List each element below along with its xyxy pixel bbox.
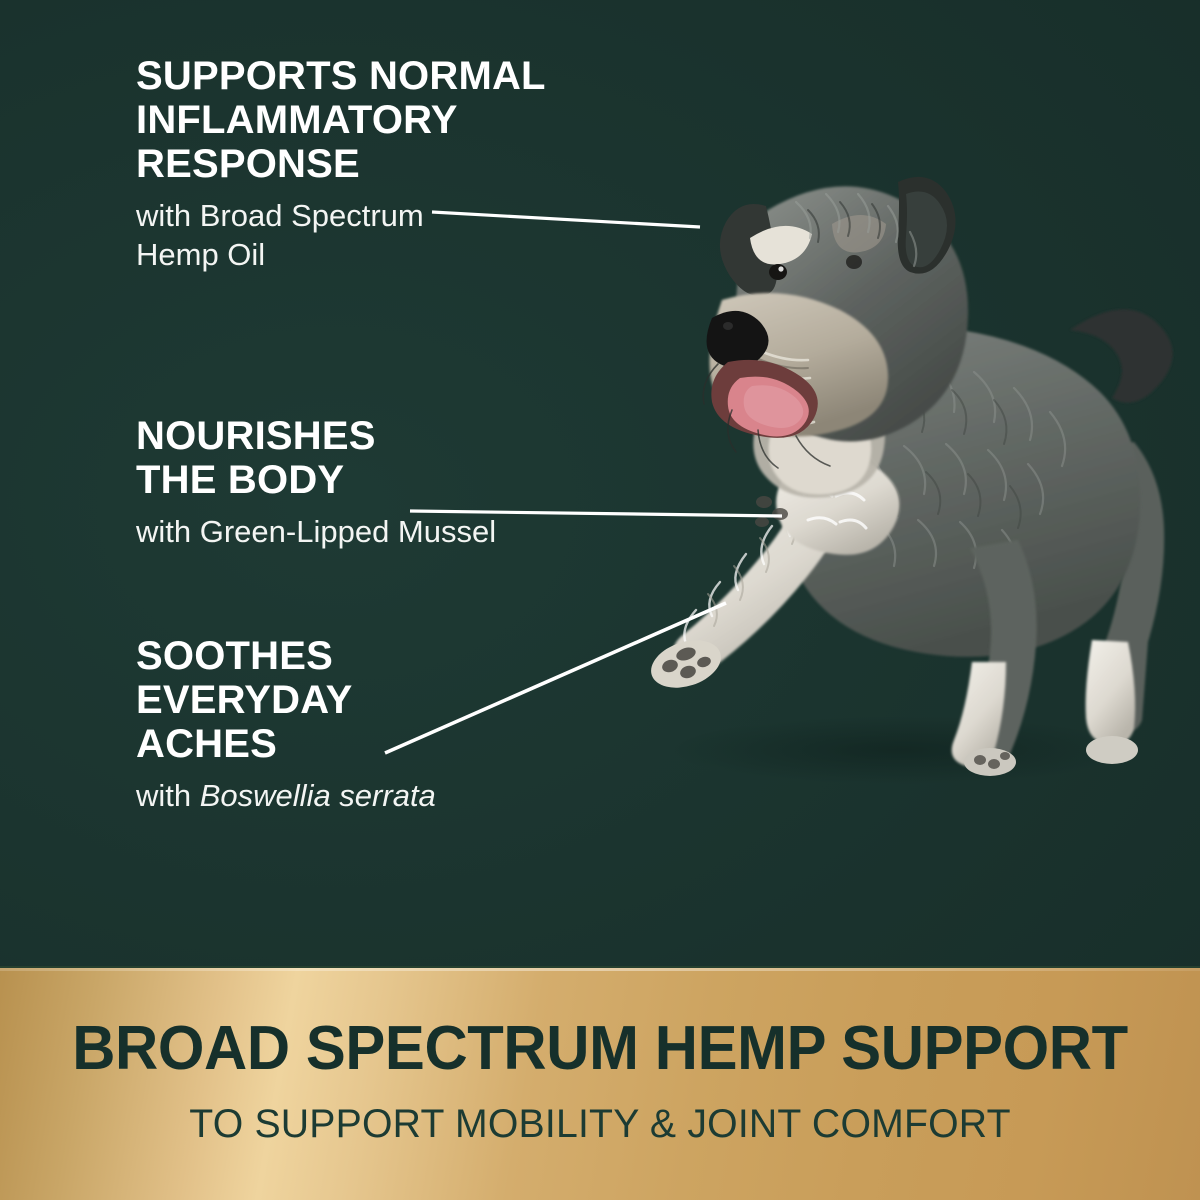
benefit-heading: SOOTHES EVERYDAY ACHES [136, 634, 696, 766]
footer-subline: TO SUPPORT MOBILITY & JOINT COMFORT [12, 1104, 1188, 1144]
benefit-subtext: with Boswellia serrata [136, 776, 696, 815]
benefit-block-inflammatory: SUPPORTS NORMAL INFLAMMATORY RESPONSE wi… [136, 54, 696, 274]
benefit-block-nourishes: NOURISHES THE BODY with Green-Lipped Mus… [136, 414, 696, 551]
benefit-subtext: with Broad Spectrum Hemp Oil [136, 196, 696, 274]
benefit-subtext-italic: Boswellia serrata [200, 778, 436, 813]
gold-footer-content: BROAD SPECTRUM HEMP SUPPORT TO SUPPORT M… [0, 1018, 1200, 1144]
gold-footer-bar: BROAD SPECTRUM HEMP SUPPORT TO SUPPORT M… [0, 966, 1200, 1200]
benefit-subtext-prefix: with Broad Spectrum Hemp Oil [136, 198, 424, 272]
benefit-subtext-prefix: with Green-Lipped Mussel [136, 514, 496, 549]
benefit-block-soothes: SOOTHES EVERYDAY ACHES with Boswellia se… [136, 634, 696, 815]
promo-banner: SUPPORTS NORMAL INFLAMMATORY RESPONSE wi… [0, 0, 1200, 1200]
benefit-heading: NOURISHES THE BODY [136, 414, 696, 502]
benefit-subtext-prefix: with [136, 778, 200, 813]
benefit-subtext: with Green-Lipped Mussel [136, 512, 696, 551]
benefit-heading: SUPPORTS NORMAL INFLAMMATORY RESPONSE [136, 54, 696, 186]
footer-headline: BROAD SPECTRUM HEMP SUPPORT [21, 1018, 1179, 1080]
